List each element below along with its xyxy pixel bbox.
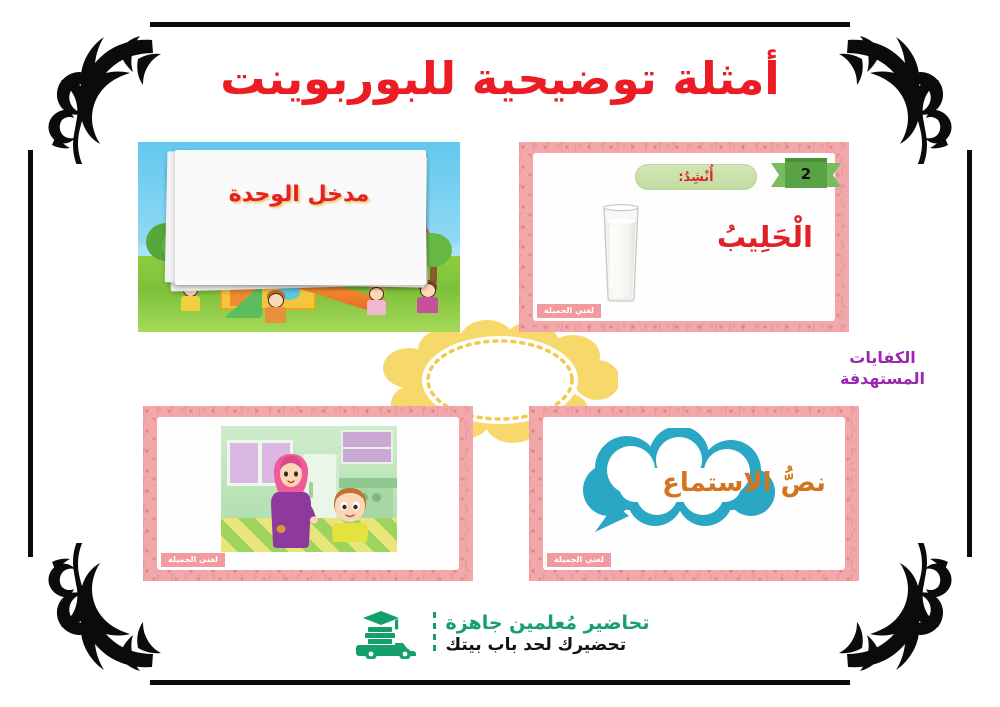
- kitchen-upper-cabinet: [341, 430, 393, 464]
- footer-divider: [433, 612, 436, 656]
- playground-scene: مدخل الوحدة: [138, 142, 460, 332]
- ansheed-pill-label: أُنْشِدُ:: [635, 164, 757, 190]
- slide-intro-title: مدخل الوحدة: [138, 182, 460, 207]
- slide-card-milk[interactable]: 2 أُنْشِدُ: الْحَلِيبُ: [519, 142, 849, 332]
- listening-text-label: نصُّ الاستماع: [629, 468, 859, 498]
- slide-card-kitchen[interactable]: لغتي الجميلة: [143, 406, 473, 581]
- paper-sheet-front: [175, 150, 427, 285]
- frame-line-left: [28, 150, 33, 557]
- glass-of-milk-icon: [599, 204, 643, 302]
- lang-tag-milk: لغتي الجميلة: [537, 304, 601, 318]
- milk-word-label: الْحَلِيبُ: [717, 220, 813, 254]
- competencies-label: الكفايات المستهدفة: [765, 348, 1000, 390]
- kitchen-illustration: [221, 426, 397, 552]
- lang-tag-kitchen: لغتي الجميلة: [161, 553, 225, 567]
- footer-brand-text: تحاضير مُعلمين جاهزة تحضيرك لحد باب بيتك: [446, 612, 650, 657]
- ribbon-number: 2: [771, 165, 841, 183]
- woman-character: [263, 450, 319, 548]
- page-title: أمثلة توضيحية للبوربوينت: [0, 52, 1000, 105]
- footer-brand-logo: تحاضير مُعلمين جاهزة تحضيرك لحد باب بيتك: [0, 609, 1000, 659]
- frame-line-bottom: [150, 680, 850, 685]
- competencies-line-1: الكفايات: [765, 348, 1000, 369]
- delivery-truck-icon: [351, 609, 423, 659]
- footer-brand-line-2: تحضيرك لحد باب بيتك: [446, 635, 627, 656]
- frame-line-top: [150, 22, 850, 27]
- slide-card-unit-intro[interactable]: مدخل الوحدة: [138, 142, 460, 332]
- footer-brand-line-1: تحاضير مُعلمين جاهزة: [446, 612, 650, 636]
- poster-page: أمثلة توضيحية للبوربوينت الكفايات المسته…: [0, 0, 1000, 707]
- boy-character: [327, 486, 373, 542]
- competencies-line-2: المستهدفة: [765, 369, 1000, 390]
- lang-tag-listening: لغتي الجميلة: [547, 553, 611, 567]
- paper-stack: [164, 150, 434, 291]
- child-orange: [262, 290, 290, 326]
- slide-card-listening-text[interactable]: نصُّ الاستماع لغتي الجميلة: [529, 406, 859, 581]
